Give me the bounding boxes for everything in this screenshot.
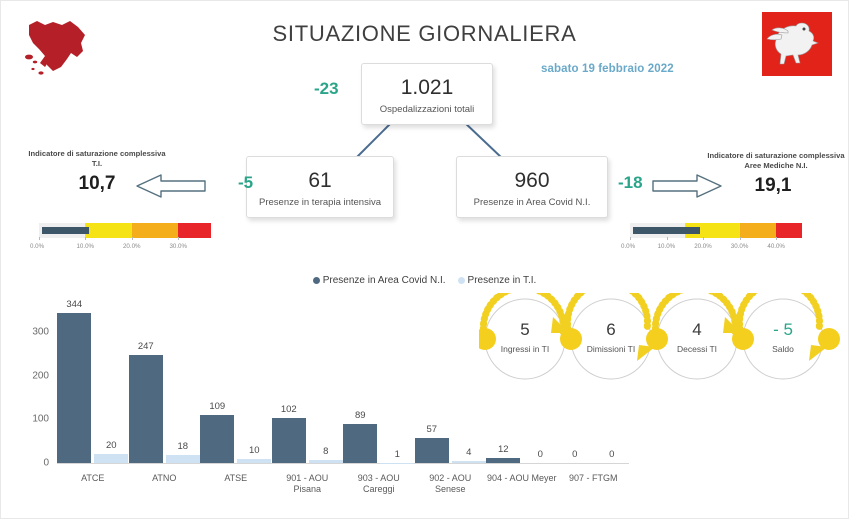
- bar-value-label: 109: [209, 401, 225, 412]
- gauge-left-tick: 10.0%: [76, 243, 94, 250]
- legend-label: Presenze in Area Covid N.I.: [323, 275, 446, 286]
- flow-node-caption: Ingressi in TI: [482, 344, 568, 354]
- gauge-left-band-1: [85, 223, 131, 238]
- bar-covid-area[interactable]: 89: [343, 424, 377, 463]
- flow-node-value: 6: [568, 321, 654, 338]
- bar-icu[interactable]: 10: [237, 459, 271, 463]
- gauge-left-tick: 20.0%: [123, 243, 141, 250]
- x-tick-label: ATNO: [129, 473, 201, 484]
- gauge-right-scale: 0.0%10.0%20.0%30.0%40.0%: [630, 241, 815, 253]
- bar-value-label: 0: [538, 449, 543, 460]
- gauge-right-bar: [630, 223, 802, 238]
- card-medical-area-presence: 960 Presenze in Area Covid N.I.: [456, 156, 608, 218]
- card-total-value: 1.021: [362, 77, 492, 98]
- flow-node-value: - 5: [740, 321, 826, 338]
- gauge-left-tick-mark: [132, 237, 133, 240]
- bar-value-label: 4: [466, 447, 471, 458]
- legend-dot-icon: [458, 277, 465, 284]
- arrow-left-icon: [131, 171, 209, 201]
- bar-value-label: 57: [426, 424, 437, 435]
- chart-legend: Presenze in Area Covid N.I.Presenze in T…: [1, 275, 848, 286]
- bar-value-label: 8: [323, 446, 328, 457]
- x-tick-label: ATSE: [200, 473, 272, 484]
- gauge-left-tick: 30.0%: [169, 243, 187, 250]
- bar-value-label: 0: [609, 449, 614, 460]
- gauge-right-band-2: [740, 223, 777, 238]
- flow-node: - 5Saldo: [740, 321, 826, 354]
- gauge-right-band-3: [776, 223, 802, 238]
- chart-x-axis: ATCEATNOATSE901 - AOU Pisana903 - AOU Ca…: [57, 467, 629, 501]
- card-medical-value: 960: [457, 170, 607, 191]
- delta-icu: -5: [238, 173, 253, 193]
- legend-item[interactable]: Presenze in Area Covid N.I.: [313, 275, 446, 286]
- gauge-left-value-bar: [42, 227, 89, 234]
- flow-node-value: 4: [654, 321, 740, 338]
- bar-value-label: 247: [138, 341, 154, 352]
- bar-icu[interactable]: 8: [309, 460, 343, 463]
- card-icu-caption: Presenze in terapia intensiva: [247, 198, 393, 209]
- flow-node-value: 5: [482, 321, 568, 338]
- report-date: sabato 19 febbraio 2022: [541, 63, 731, 75]
- x-tick-label: 903 - AOU Careggi: [343, 473, 415, 496]
- x-tick-label: 904 - AOU Meyer: [486, 473, 558, 484]
- bar-icu[interactable]: 4: [452, 461, 486, 463]
- gauge-right-tick: 30.0%: [731, 243, 749, 250]
- gauge-left-band-2: [132, 223, 178, 238]
- bar-group: 10910: [200, 297, 272, 463]
- gauge-right-tick-mark: [703, 237, 704, 240]
- card-icu-presence: 61 Presenze in terapia intensiva: [246, 156, 394, 218]
- delta-total: -23: [314, 79, 339, 99]
- bar-value-label: 102: [281, 404, 297, 415]
- chart-y-axis: 0100200300: [11, 297, 55, 463]
- icu-flow-diagram: 5Ingressi in TI6Dimissioni TI4Decessi TI…: [479, 293, 847, 385]
- gauge-right-tick: 10.0%: [658, 243, 676, 250]
- gauge-right-tick-mark: [776, 237, 777, 240]
- card-medical-caption: Presenze in Area Covid N.I.: [457, 198, 607, 209]
- flow-node-caption: Saldo: [740, 344, 826, 354]
- x-tick-label: 907 - FTGM: [558, 473, 630, 484]
- card-total-caption: Ospedalizzazioni totali: [362, 105, 492, 116]
- y-tick-label: 100: [32, 414, 49, 425]
- bar-value-label: 12: [498, 444, 509, 455]
- y-tick-label: 300: [32, 326, 49, 337]
- dashboard-page: SITUAZIONE GIORNALIERA sabato 19 febbrai…: [0, 0, 849, 519]
- bar-value-label: 89: [355, 410, 366, 421]
- gauge-left-tick: 0.0%: [30, 243, 44, 250]
- card-icu-value: 61: [247, 170, 393, 191]
- y-tick-label: 200: [32, 370, 49, 381]
- gauge-right-tick-mark: [630, 237, 631, 240]
- bar-group: 574: [415, 297, 487, 463]
- flow-node: 6Dimissioni TI: [568, 321, 654, 354]
- gauge-right-tick-mark: [740, 237, 741, 240]
- bar-group: 891: [343, 297, 415, 463]
- bar-group: 34420: [57, 297, 129, 463]
- delta-medical: -18: [618, 173, 643, 193]
- bar-group: 24718: [129, 297, 201, 463]
- bar-value-label: 1: [395, 449, 400, 460]
- bar-value-label: 0: [572, 449, 577, 460]
- bar-value-label: 18: [177, 441, 188, 452]
- flow-node: 5Ingressi in TI: [482, 321, 568, 354]
- bar-icu[interactable]: 20: [94, 454, 128, 463]
- bar-covid-area[interactable]: 57: [415, 438, 449, 463]
- bar-value-label: 20: [106, 440, 117, 451]
- bar-covid-area[interactable]: 12: [486, 458, 520, 463]
- x-tick-label: 902 - AOU Senese: [415, 473, 487, 496]
- gauge-right-tick: 20.0%: [694, 243, 712, 250]
- gauge-right-tick-mark: [667, 237, 668, 240]
- x-tick-label: 901 - AOU Pisana: [272, 473, 344, 496]
- gauge-right-tick: 0.0%: [621, 243, 635, 250]
- legend-label: Presenze in T.I.: [468, 275, 537, 286]
- gauge-left-tick-mark: [85, 237, 86, 240]
- bar-value-label: 10: [249, 445, 260, 456]
- gauge-left-tick-mark: [39, 237, 40, 240]
- y-tick-label: 0: [43, 458, 49, 469]
- x-tick-label: ATCE: [57, 473, 129, 484]
- gauge-right-title: Indicatore di saturazione complessiva Ar…: [706, 151, 846, 171]
- gauge-right-value-bar: [633, 227, 700, 234]
- bar-covid-area[interactable]: 102: [272, 418, 306, 463]
- bar-icu[interactable]: 18: [166, 455, 200, 463]
- gauge-left-bar: [39, 223, 211, 238]
- legend-item[interactable]: Presenze in T.I.: [458, 275, 537, 286]
- gauge-left-scale: 0.0%10.0%20.0%30.0%: [39, 241, 219, 253]
- page-title: SITUAZIONE GIORNALIERA: [1, 21, 848, 47]
- gauge-left-tick-mark: [178, 237, 179, 240]
- flow-node: 4Decessi TI: [654, 321, 740, 354]
- gauge-left-band-3: [178, 223, 211, 238]
- bar-covid-area[interactable]: 247: [129, 355, 163, 463]
- gauge-right-tick: 40.0%: [767, 243, 785, 250]
- bar-value-label: 344: [66, 299, 82, 310]
- card-total-hospitalizations: 1.021 Ospedalizzazioni totali: [361, 63, 493, 125]
- bar-group: 1028: [272, 297, 344, 463]
- legend-dot-icon: [313, 277, 320, 284]
- bar-covid-area[interactable]: 109: [200, 415, 234, 463]
- flow-node-caption: Decessi TI: [654, 344, 740, 354]
- gauge-left-title: Indicatore di saturazione complessiva T.…: [27, 149, 167, 169]
- bar-covid-area[interactable]: 344: [57, 313, 91, 463]
- gauge-right-value: 19,1: [713, 175, 833, 197]
- arrow-right-icon: [649, 171, 727, 201]
- flow-node-caption: Dimissioni TI: [568, 344, 654, 354]
